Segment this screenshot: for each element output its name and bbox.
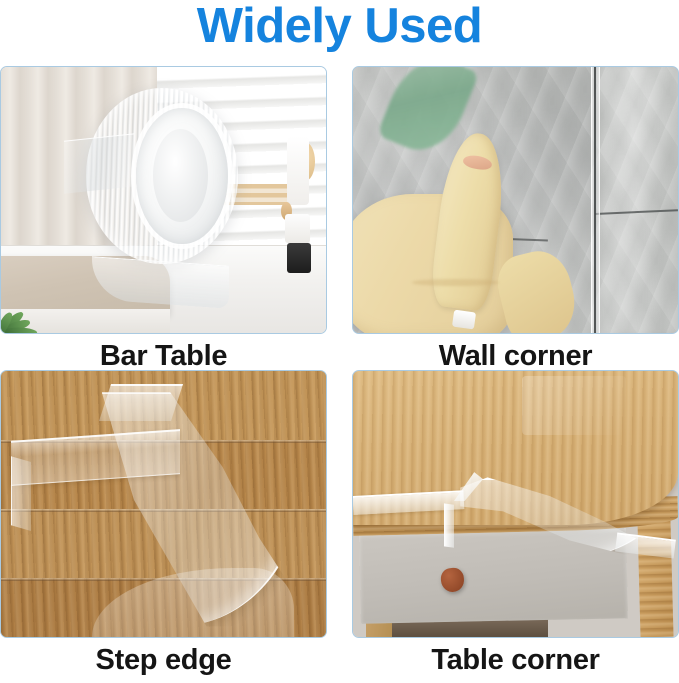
panel-step-edge[interactable]: Step edge (0, 370, 327, 673)
scene-wall-corner (353, 67, 678, 333)
tile-seam-vertical (594, 67, 596, 333)
bottle-dark-box (287, 243, 311, 273)
tape-roll (86, 88, 239, 264)
knuckle-shadow (412, 279, 499, 287)
photo-frame-wall-corner (352, 66, 679, 334)
scene-bar-table (1, 67, 326, 333)
bottle-tall (287, 136, 309, 205)
panel-table-corner[interactable]: Table corner (352, 370, 679, 673)
photo-frame-table-corner (352, 370, 679, 638)
potted-plant (1, 282, 50, 333)
panel-caption-bar-table: Bar Table (0, 339, 327, 373)
panel-bar-table[interactable]: Bar Table (0, 66, 327, 369)
corner-guard-end-cut (444, 503, 454, 547)
bottle-label (285, 214, 310, 244)
edge-guard-riser (99, 384, 183, 421)
table-top-highlight (522, 376, 626, 435)
panel-caption-wall-corner: Wall corner (352, 339, 679, 373)
panel-caption-table-corner: Table corner (352, 643, 679, 677)
pointing-hand (353, 152, 581, 333)
photo-frame-step-edge (0, 370, 327, 638)
panel-grid: Bar Table (0, 66, 679, 683)
scene-step-edge (1, 371, 326, 637)
edge-guard-end-lip (11, 456, 31, 531)
photo-frame-bar-table (0, 66, 327, 334)
scene-table-corner (353, 371, 678, 637)
cosmetic-bottles (277, 136, 323, 285)
panel-wall-corner[interactable]: Wall corner (352, 66, 679, 369)
tape-roll-loose-sheet (64, 134, 134, 194)
finger-ring (452, 310, 476, 330)
page-title: Widely Used (0, 0, 679, 54)
tape-roll-core (153, 129, 208, 222)
infographic-page: Widely Used (0, 0, 679, 683)
panel-caption-step-edge: Step edge (0, 643, 327, 677)
